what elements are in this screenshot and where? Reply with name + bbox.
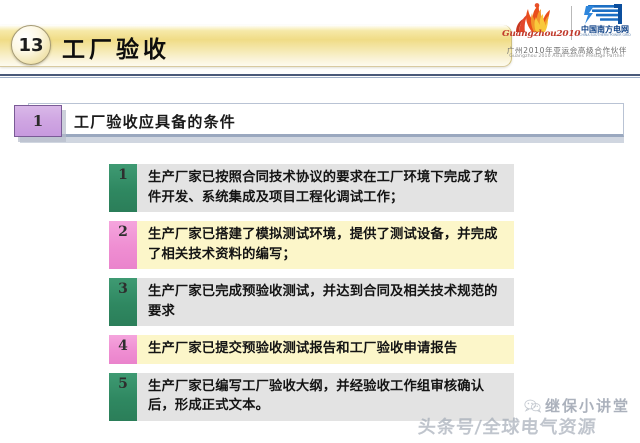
list-item-badge: 1: [109, 164, 137, 212]
watermark-account-name: 继保小讲堂: [545, 395, 630, 416]
list-item: 1 生产厂家已按照合同技术协议的要求在工厂环境下完成了软件开发、系统集成及项目工…: [109, 164, 514, 212]
slide-title: 工厂验收: [62, 30, 170, 64]
list-item: 3 生产厂家已完成预验收测试，并达到合同及相关技术规范的要求: [109, 278, 514, 326]
slide-number-badge: 13: [11, 25, 51, 65]
list-item-badge: 5: [109, 373, 137, 421]
csg-logo: 中国南方电网 CHINA SOUTHERN POWER GRID: [577, 2, 633, 42]
list-item-text: 生产厂家已搭建了模拟测试环境，提供了测试设备，并完成了相关技术资料的编写；: [137, 221, 514, 269]
asian-games-logo: Guangzhou2010: [496, 2, 568, 42]
list-item-text: 生产厂家已完成预验收测试，并达到合同及相关技术规范的要求: [137, 278, 514, 326]
logo-row: Guangzhou2010 中国南方电网 CHINA SOUTHERN POWE…: [496, 2, 636, 42]
section-title-text: 工厂验收应具备的条件: [74, 111, 236, 132]
partner-text-en: Guangzhou 2010 Asian Games Prestige Part…: [498, 54, 636, 59]
watermark-account: 继保小讲堂: [524, 395, 630, 416]
csg-name-en: CHINA SOUTHERN POWER GRID: [578, 33, 631, 37]
games-wordmark: Guangzhou2010: [502, 30, 562, 40]
header-divider-secondary: [0, 77, 640, 78]
section-number-badge: 1: [14, 105, 62, 137]
list-item-text: 生产厂家已按照合同技术协议的要求在工厂环境下完成了软件开发、系统集成及项目工程化…: [137, 164, 514, 212]
condition-list: 1 生产厂家已按照合同技术协议的要求在工厂环境下完成了软件开发、系统集成及项目工…: [109, 164, 514, 430]
list-item-badge: 4: [109, 335, 137, 364]
list-item-text: 生产厂家已编写工厂验收大纲，并经验收工作组审核确认后，形成正式文本。: [137, 373, 514, 421]
list-item: 4 生产厂家已提交预验收测试报告和工厂验收申请报告: [109, 335, 514, 364]
asian-games-flame-icon: [510, 3, 554, 33]
sponsor-logo-block: Guangzhou2010 中国南方电网 CHINA SOUTHERN POWE…: [496, 2, 636, 60]
list-item-badge: 2: [109, 221, 137, 269]
list-item: 5 生产厂家已编写工厂验收大纲，并经验收工作组审核确认后，形成正式文本。: [109, 373, 514, 421]
wechat-icon: [524, 399, 541, 413]
header-divider-primary: [0, 74, 640, 76]
list-item-badge: 3: [109, 278, 137, 326]
section-heading: 1 工厂验收应具备的条件: [14, 100, 624, 148]
china-southern-power-grid-mark-icon: [583, 3, 627, 25]
list-item: 2 生产厂家已搭建了模拟测试环境，提供了测试设备，并完成了相关技术资料的编写；: [109, 221, 514, 269]
list-item-text: 生产厂家已提交预验收测试报告和工厂验收申请报告: [137, 335, 514, 364]
